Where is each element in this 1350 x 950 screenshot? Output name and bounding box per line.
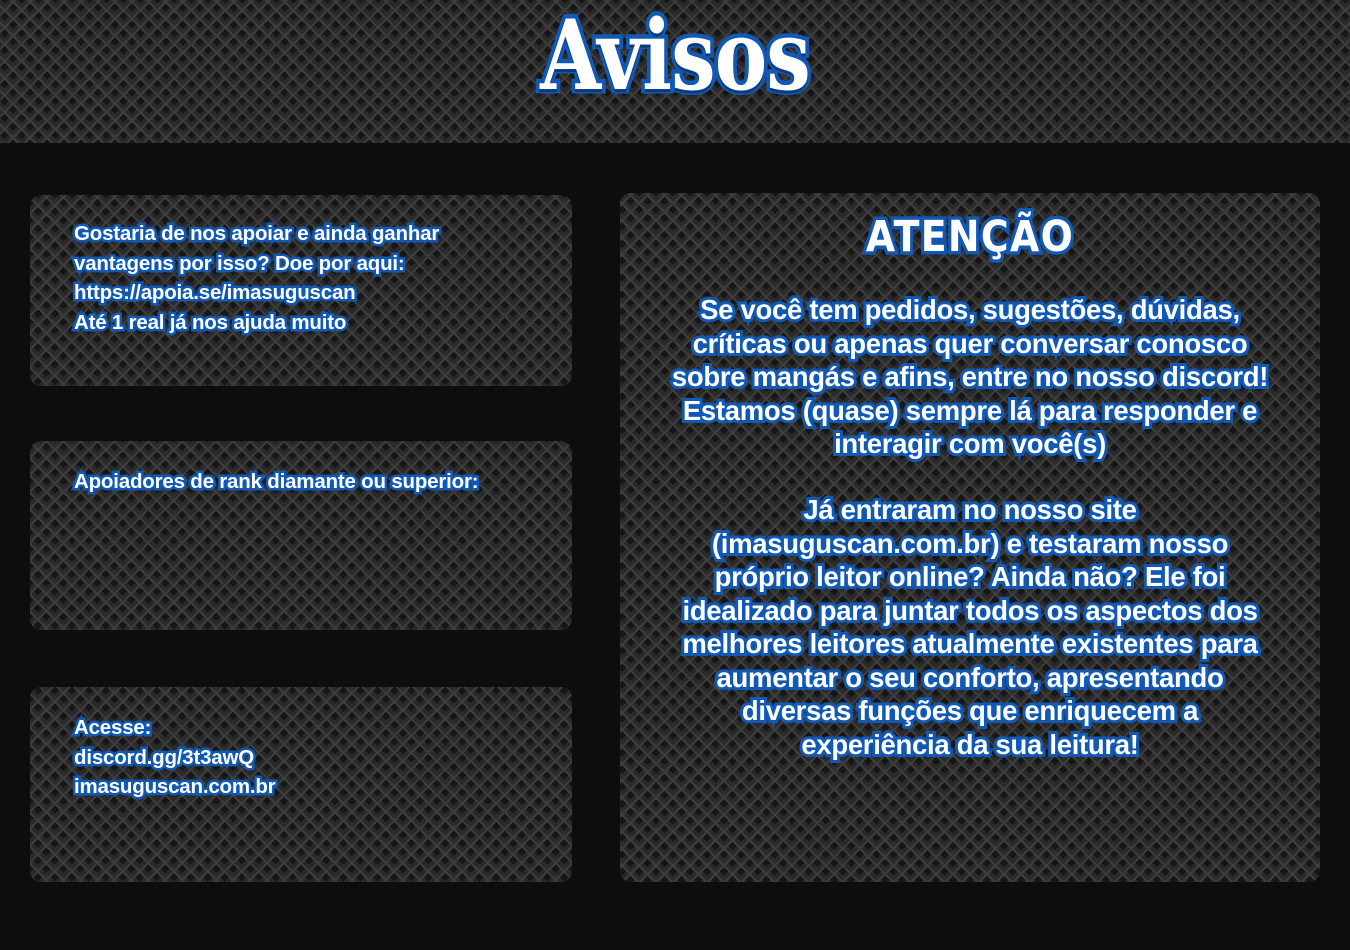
page-title: Avisos [122,4,1229,108]
support-panel: Gostaria de nos apoiar e ainda ganhar va… [30,195,572,386]
attention-paragraph-2: Já entraram no nosso site (imasuguscan.c… [638,493,1302,761]
header-band: Avisos [0,0,1350,143]
backers-panel-text: Apoiadores de rank diamante ou superior: [74,467,478,497]
attention-paragraph-1: Se você tem pedidos, sugestões, dúvidas,… [638,293,1302,461]
avisos-page: Avisos Gostaria de nos apoiar e ainda ga… [0,0,1350,950]
support-panel-text: Gostaria de nos apoiar e ainda ganhar va… [74,219,439,337]
attention-heading: ATENÇÃO [662,211,1278,263]
backers-panel: Apoiadores de rank diamante ou superior: [30,441,572,630]
attention-panel: ATENÇÃO Se você tem pedidos, sugestões, … [620,193,1320,882]
links-panel: Acesse: discord.gg/3t3awQ imasuguscan.co… [30,687,572,882]
links-panel-text: Acesse: discord.gg/3t3awQ imasuguscan.co… [74,713,275,802]
